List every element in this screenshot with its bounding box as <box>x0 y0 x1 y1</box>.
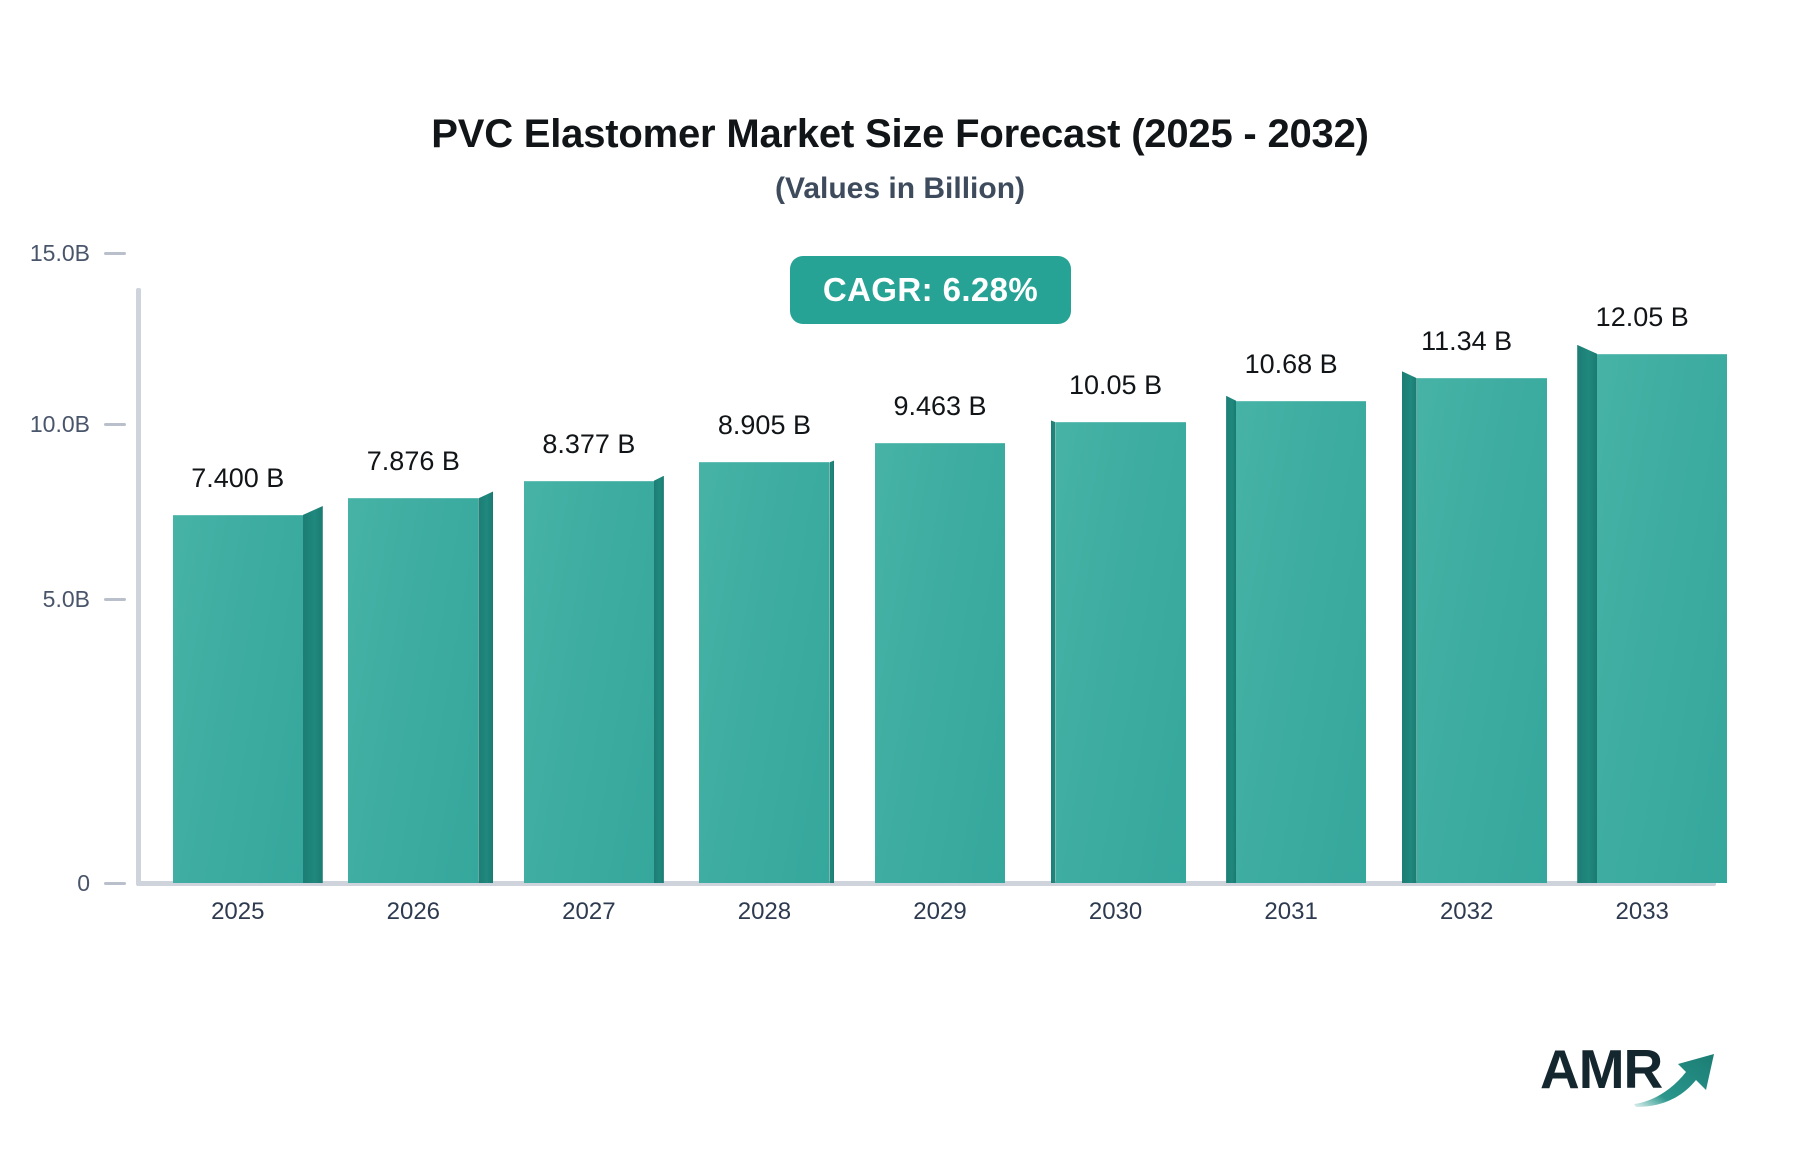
bar-2028[interactable] <box>699 460 834 883</box>
growth-arrow-icon <box>1632 1046 1722 1108</box>
y-tick-mark <box>104 423 126 426</box>
cagr-badge: CAGR: 6.28% <box>790 256 1071 324</box>
y-axis-line <box>136 288 141 885</box>
bar-2029[interactable] <box>875 443 1005 883</box>
x-axis-label-2031: 2031 <box>1221 898 1361 926</box>
bar-side-face <box>1051 420 1056 883</box>
y-tick-mark <box>104 598 126 601</box>
bar-side-face <box>478 491 493 883</box>
bar-2025[interactable] <box>173 506 323 883</box>
page-title: PVC Elastomer Market Size Forecast (2025… <box>0 112 1800 157</box>
amr-logo: AMR <box>1540 1040 1720 1112</box>
x-axis-label-2030: 2030 <box>1046 898 1186 926</box>
bar-2031[interactable] <box>1226 396 1366 883</box>
y-tick-mark <box>104 252 126 255</box>
x-axis-label-2032: 2032 <box>1397 898 1537 926</box>
bar-front-face <box>1056 422 1186 883</box>
bar-2030[interactable] <box>1051 420 1186 883</box>
bar-side-face <box>654 476 664 883</box>
bar-side-face <box>829 460 834 883</box>
bar-value-label: 12.05 B <box>1532 302 1752 333</box>
y-tick-label: 10.0B <box>30 413 90 436</box>
bar-2032[interactable] <box>1402 371 1547 883</box>
bar-side-face <box>1226 396 1236 883</box>
bar-front-face <box>1417 378 1547 883</box>
y-tick-label: 15.0B <box>30 242 90 265</box>
bar-front-face <box>1236 401 1366 883</box>
bar-front-face <box>173 515 303 883</box>
bar-front-face <box>348 498 478 883</box>
y-tick-label: 5.0B <box>43 588 90 611</box>
bar-side-face <box>1402 371 1417 883</box>
y-tick-mark <box>104 882 126 885</box>
bar-side-face <box>1577 345 1597 883</box>
x-axis-label-2033: 2033 <box>1572 898 1712 926</box>
bar-front-face <box>524 481 654 883</box>
chart-subtitle: (Values in Billion) <box>0 172 1800 206</box>
bar-2027[interactable] <box>524 476 664 883</box>
bar-chart: PVC Elastomer Market Size Forecast (2025… <box>0 0 1800 1156</box>
y-tick-label: 0 <box>77 872 90 895</box>
bar-front-face <box>875 443 1005 883</box>
bar-front-face <box>1597 354 1727 883</box>
x-axis-label-2029: 2029 <box>870 898 1010 926</box>
x-axis-label-2028: 2028 <box>694 898 834 926</box>
bar-front-face <box>699 462 829 883</box>
bar-side-face <box>303 506 323 883</box>
x-axis-label-2027: 2027 <box>519 898 659 926</box>
x-axis-label-2026: 2026 <box>343 898 483 926</box>
bar-2033[interactable] <box>1577 345 1727 883</box>
x-axis-label-2025: 2025 <box>168 898 308 926</box>
bar-2026[interactable] <box>348 491 493 883</box>
